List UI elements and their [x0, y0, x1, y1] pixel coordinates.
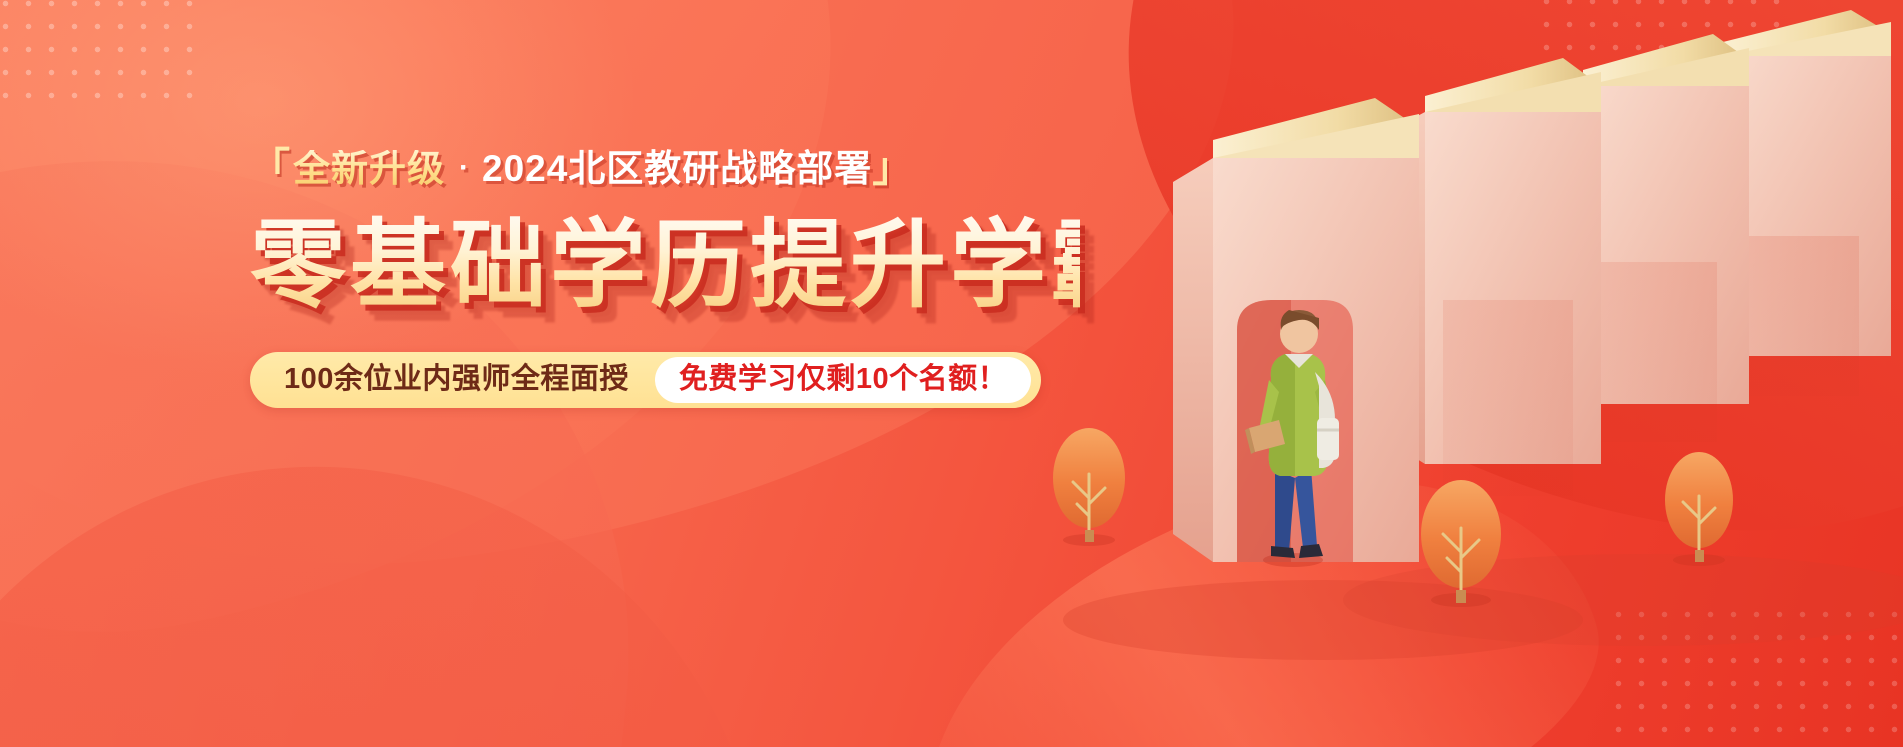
- promotional-banner: 「 全新升级 · 2024北区教研战略部署 」 零基础学历提升学霸班 100余位…: [0, 0, 1903, 747]
- tree-left: [1053, 428, 1125, 546]
- banner-text-content: 「 全新升级 · 2024北区教研战略部署 」 零基础学历提升学霸班 100余位…: [250, 140, 1080, 408]
- bracket-close-icon: 」: [872, 148, 913, 188]
- page-title: 零基础学历提升学霸班: [250, 214, 1080, 318]
- illustration: [1023, 0, 1903, 747]
- bracket-open-icon: 「: [250, 148, 291, 188]
- subtitle-line: 「 全新升级 · 2024北区教研战略部署 」: [250, 140, 1080, 196]
- tree-far-right: [1665, 452, 1733, 566]
- subtitle-white-text: 2024北区教研战略部署: [482, 150, 872, 187]
- dot-pattern-top-left: [0, 0, 204, 112]
- background-wave-shape: [0, 436, 783, 747]
- subtitle-separator-dot: ·: [459, 153, 470, 183]
- book-arch-2: [1387, 58, 1601, 496]
- subtitle-gold-text: 全新升级: [291, 150, 447, 187]
- promo-badge-row: 100余位业内强师全程面授 免费学习仅剩10个名额！: [250, 352, 1041, 408]
- status-badge: 免费学习仅剩10个名额！: [655, 357, 1031, 403]
- badge-teacher-label: 100余位业内强师全程面授: [284, 365, 655, 394]
